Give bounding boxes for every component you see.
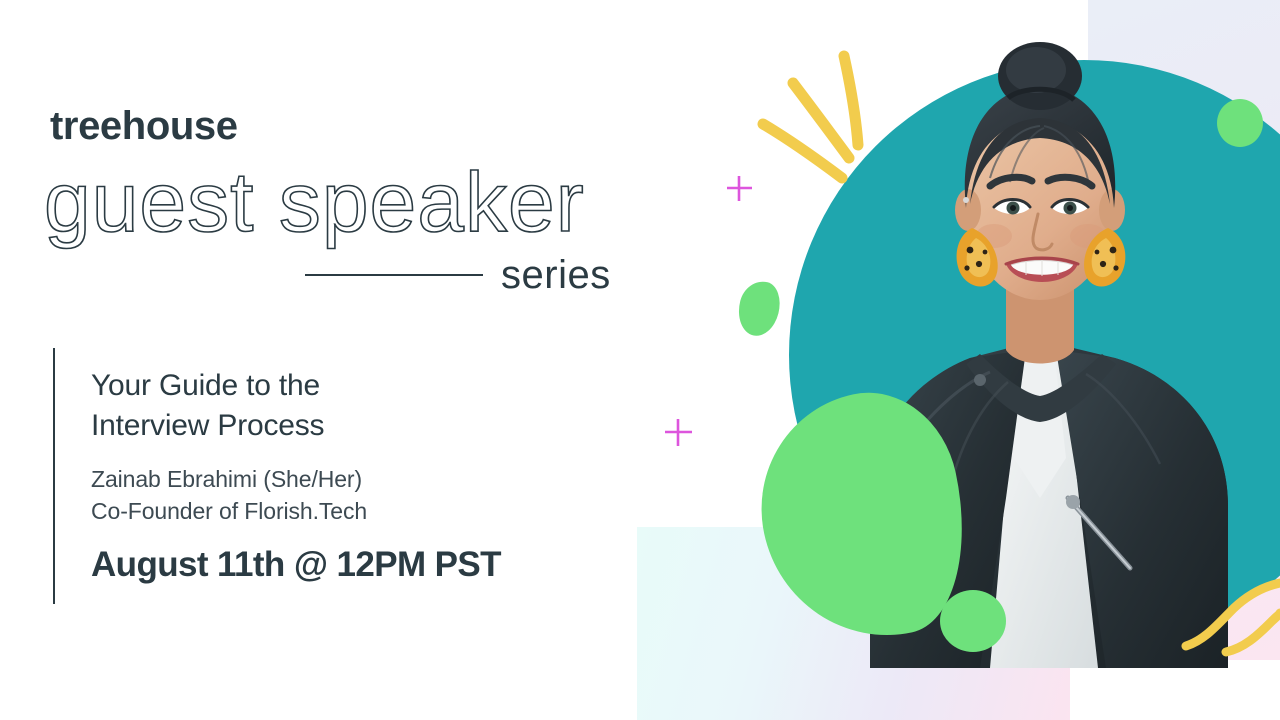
talk-title-line-2: Interview Process bbox=[91, 406, 611, 446]
talk-title-line-1: Your Guide to the bbox=[91, 366, 611, 406]
plus-mark-top-icon bbox=[727, 176, 752, 201]
event-info-block: Your Guide to the Interview Process Zain… bbox=[91, 366, 611, 586]
promo-banner: treehouse guest speaker series Your Guid… bbox=[0, 0, 1280, 720]
series-row: series bbox=[305, 255, 625, 295]
vertical-accent-rule bbox=[53, 348, 55, 604]
green-dot-bottom bbox=[940, 590, 1006, 652]
green-blob-small-left bbox=[733, 277, 785, 340]
event-datetime: August 11th @ 12PM PST bbox=[91, 544, 611, 586]
series-label: series bbox=[501, 255, 611, 295]
plus-mark-middle-icon bbox=[665, 419, 692, 446]
speaker-role: Co-Founder of Florish.Tech bbox=[91, 496, 611, 526]
speaker-name: Zainab Ebrahimi (She/Her) bbox=[91, 464, 611, 494]
headline-guest-speaker: guest speaker bbox=[44, 160, 585, 244]
treehouse-wordmark: treehouse bbox=[50, 106, 238, 146]
series-divider-rule bbox=[305, 274, 483, 276]
talk-title: Your Guide to the Interview Process bbox=[91, 366, 611, 445]
